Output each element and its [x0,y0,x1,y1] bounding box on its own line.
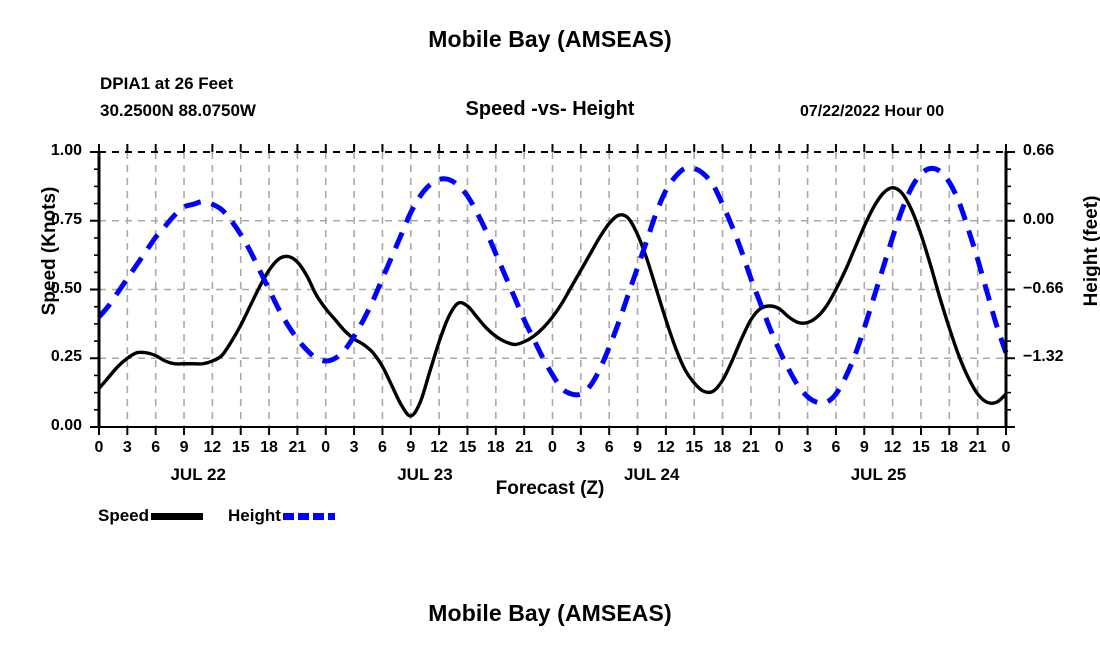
x-axis-day-label-jul-22: JUL 22 [138,465,258,485]
x-axis-day-label-jul-24: JUL 24 [592,465,712,485]
x-axis-tick-96: 0 [986,439,1026,457]
y-axis-right-tick-neg0.66: −0.66 [1023,280,1100,298]
y-axis-left-tick-0.50: 0.50 [4,280,82,298]
y-axis-left-tick-0.75: 0.75 [4,211,82,229]
legend-label-height: Height [228,506,281,526]
legend-swatch-height-icon [283,513,335,520]
legend-item-speed: Speed [98,505,203,527]
y-axis-right-tick-0.66: 0.66 [1023,142,1100,160]
y-axis-left-tick-0.00: 0.00 [4,417,82,435]
y-axis-left-tick-1.00: 1.00 [4,142,82,160]
legend-swatch-speed-icon [151,513,203,520]
legend-label-speed: Speed [98,506,149,526]
y-axis-right-tick-0.00: 0.00 [1023,211,1100,229]
legend-item-height: Height [228,505,335,527]
y-axis-left-tick-0.25: 0.25 [4,348,82,366]
chart-page: Mobile Bay (AMSEAS) DPIA1 at 26 Feet 30.… [0,0,1100,650]
grid-lines [99,152,1006,427]
x-axis-day-label-jul-25: JUL 25 [818,465,938,485]
x-axis-day-label-jul-23: JUL 23 [365,465,485,485]
footer-title: Mobile Bay (AMSEAS) [0,600,1100,627]
chart-plot-area [0,0,1100,650]
y-axis-right-tick-neg1.32: −1.32 [1023,348,1100,366]
